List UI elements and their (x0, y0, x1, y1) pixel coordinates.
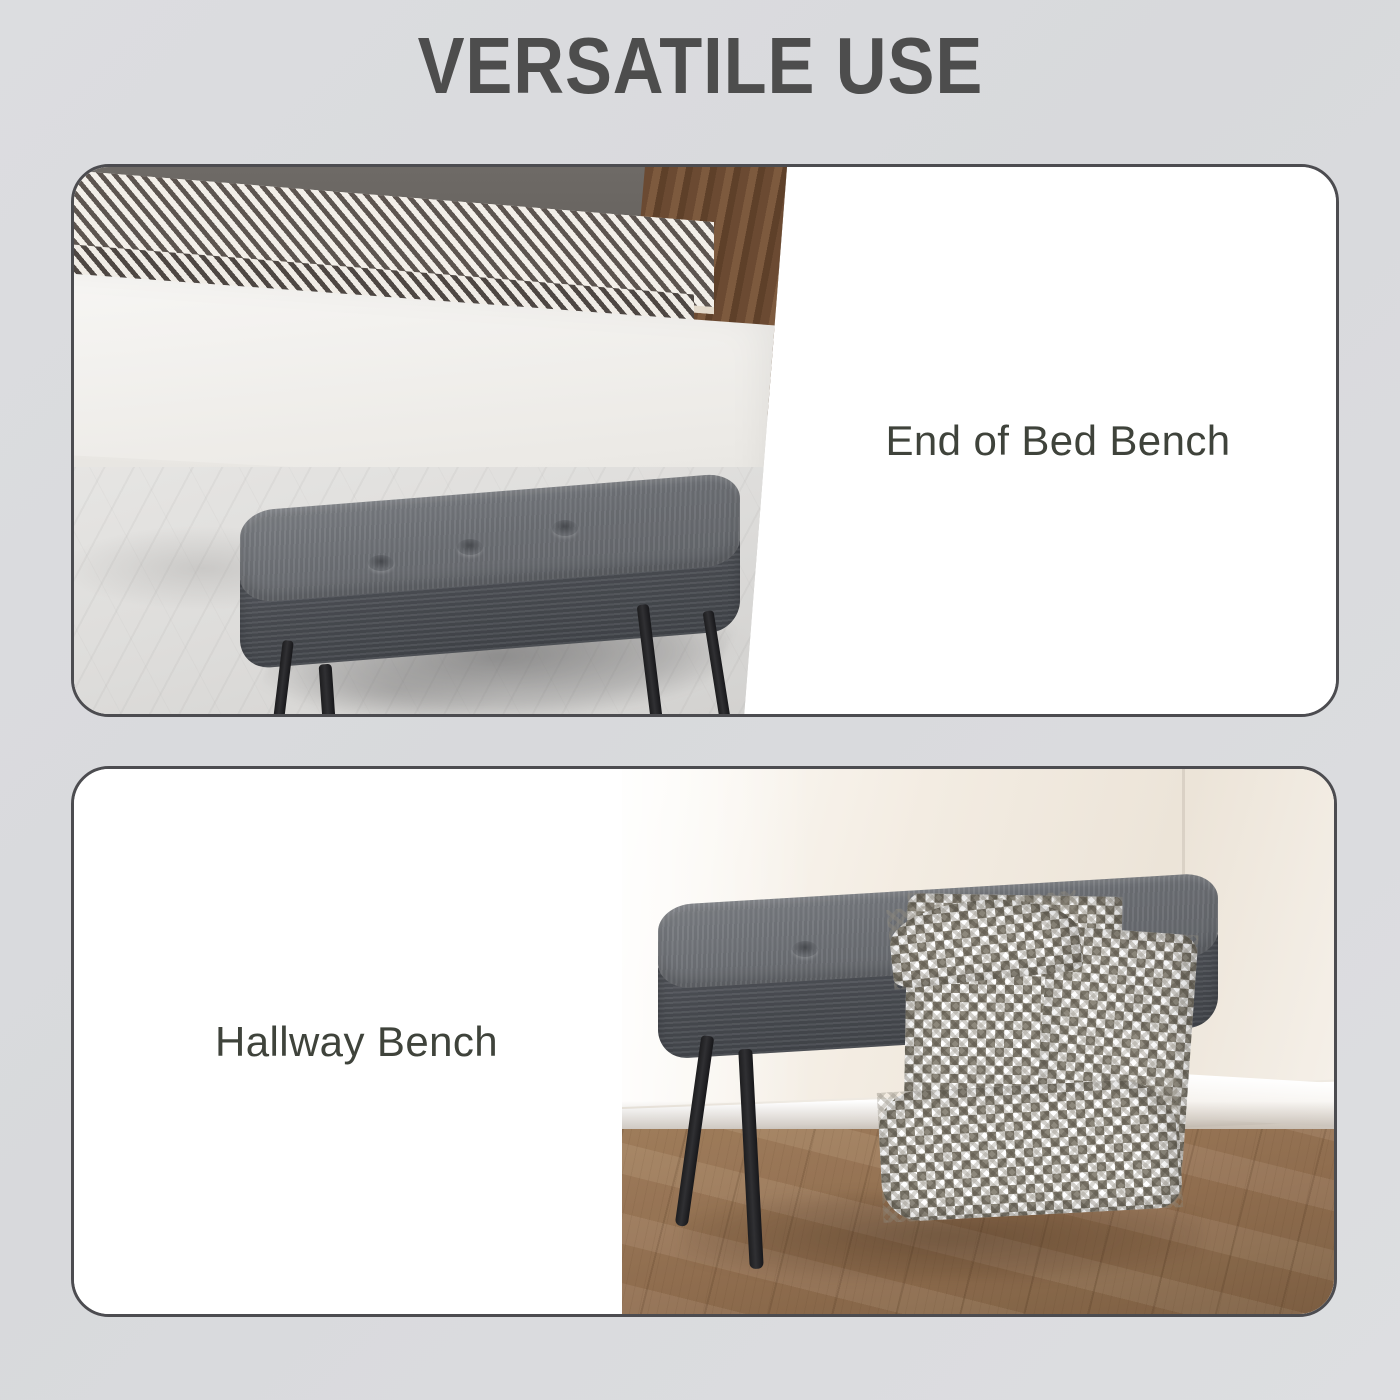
bench-tuft-button (368, 555, 394, 571)
label-hallway-bench: Hallway Bench (215, 1018, 498, 1066)
bench-leg (675, 1035, 715, 1227)
photo-end-of-bed-scene (74, 167, 787, 714)
bench-tuft-button (792, 941, 818, 957)
label-panel-end-of-bed: End of Bed Bench (774, 167, 1339, 714)
bench-tuft-button (552, 520, 578, 536)
label-end-of-bed-bench: End of Bed Bench (886, 417, 1231, 465)
bench-leg (738, 1049, 763, 1269)
bench-leg (319, 664, 345, 714)
label-panel-hallway: Hallway Bench (74, 769, 639, 1314)
page-title-bar: VERSATILE USE (0, 26, 1400, 106)
bench-tuft-button (457, 539, 483, 555)
houndstooth-throw-drape (877, 1077, 1183, 1223)
card-end-of-bed-bench: End of Bed Bench (71, 164, 1339, 717)
page-title: VERSATILE USE (417, 26, 983, 106)
bench-product-bedroom (222, 492, 782, 714)
